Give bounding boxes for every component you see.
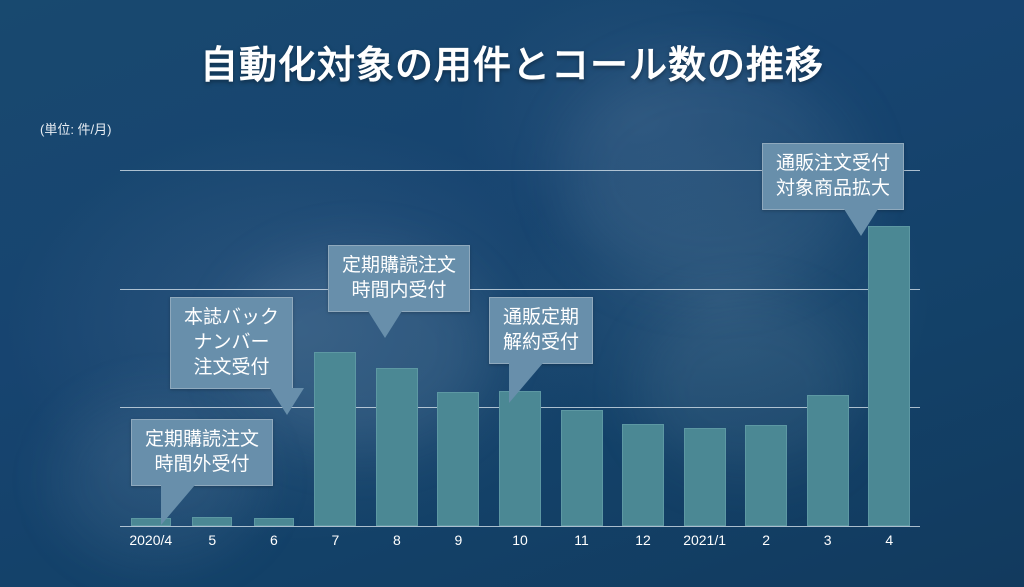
bar — [622, 424, 664, 526]
callout-pointer-icon — [844, 209, 878, 236]
annotation-callout: 本誌バック ナンバー 注文受付 — [170, 297, 293, 389]
x-axis-tick-label: 6 — [270, 532, 278, 548]
slide-canvas: 自動化対象の用件とコール数の推移 (単位: 件/月) 05,00010,0001… — [0, 0, 1024, 587]
x-axis-tick-label: 11 — [574, 532, 589, 548]
callout-pointer-icon — [270, 388, 304, 415]
annotation-callout: 定期購読注文 時間内受付 — [328, 245, 470, 312]
bar — [499, 391, 541, 526]
callout-pointer-icon — [509, 363, 543, 403]
x-axis-tick-label: 5 — [208, 532, 216, 548]
page-title: 自動化対象の用件とコール数の推移 — [0, 34, 1024, 89]
annotation-callout: 通販定期 解約受付 — [489, 297, 593, 364]
x-axis-tick-label: 8 — [393, 532, 401, 548]
x-axis-tick-label: 9 — [455, 532, 463, 548]
x-axis-tick-label: 2 — [762, 532, 770, 548]
x-axis-tick-label: 3 — [824, 532, 832, 548]
gridline — [120, 289, 920, 290]
bar — [314, 352, 356, 526]
gridline — [120, 526, 920, 527]
bar — [192, 517, 232, 526]
x-axis-tick-label: 10 — [512, 532, 528, 548]
bar — [376, 368, 418, 526]
callout-pointer-icon — [368, 311, 402, 338]
bar — [561, 410, 603, 526]
x-axis-tick-label: 7 — [331, 532, 339, 548]
bar — [254, 518, 294, 526]
bar — [807, 395, 849, 526]
annotation-callout: 通販注文受付 対象商品拡大 — [762, 143, 904, 210]
bar — [437, 392, 479, 526]
callout-pointer-icon — [161, 485, 195, 525]
x-axis-tick-label: 2020/4 — [129, 532, 172, 548]
x-axis-tick-label: 2021/1 — [683, 532, 726, 548]
bar — [745, 425, 787, 526]
annotation-callout: 定期購読注文 時間外受付 — [131, 419, 273, 486]
axis-unit-label: (単位: 件/月) — [40, 119, 112, 138]
bar — [868, 226, 910, 526]
x-axis-tick-label: 12 — [635, 532, 651, 548]
bar — [684, 428, 726, 526]
x-axis-tick-label: 4 — [885, 532, 893, 548]
